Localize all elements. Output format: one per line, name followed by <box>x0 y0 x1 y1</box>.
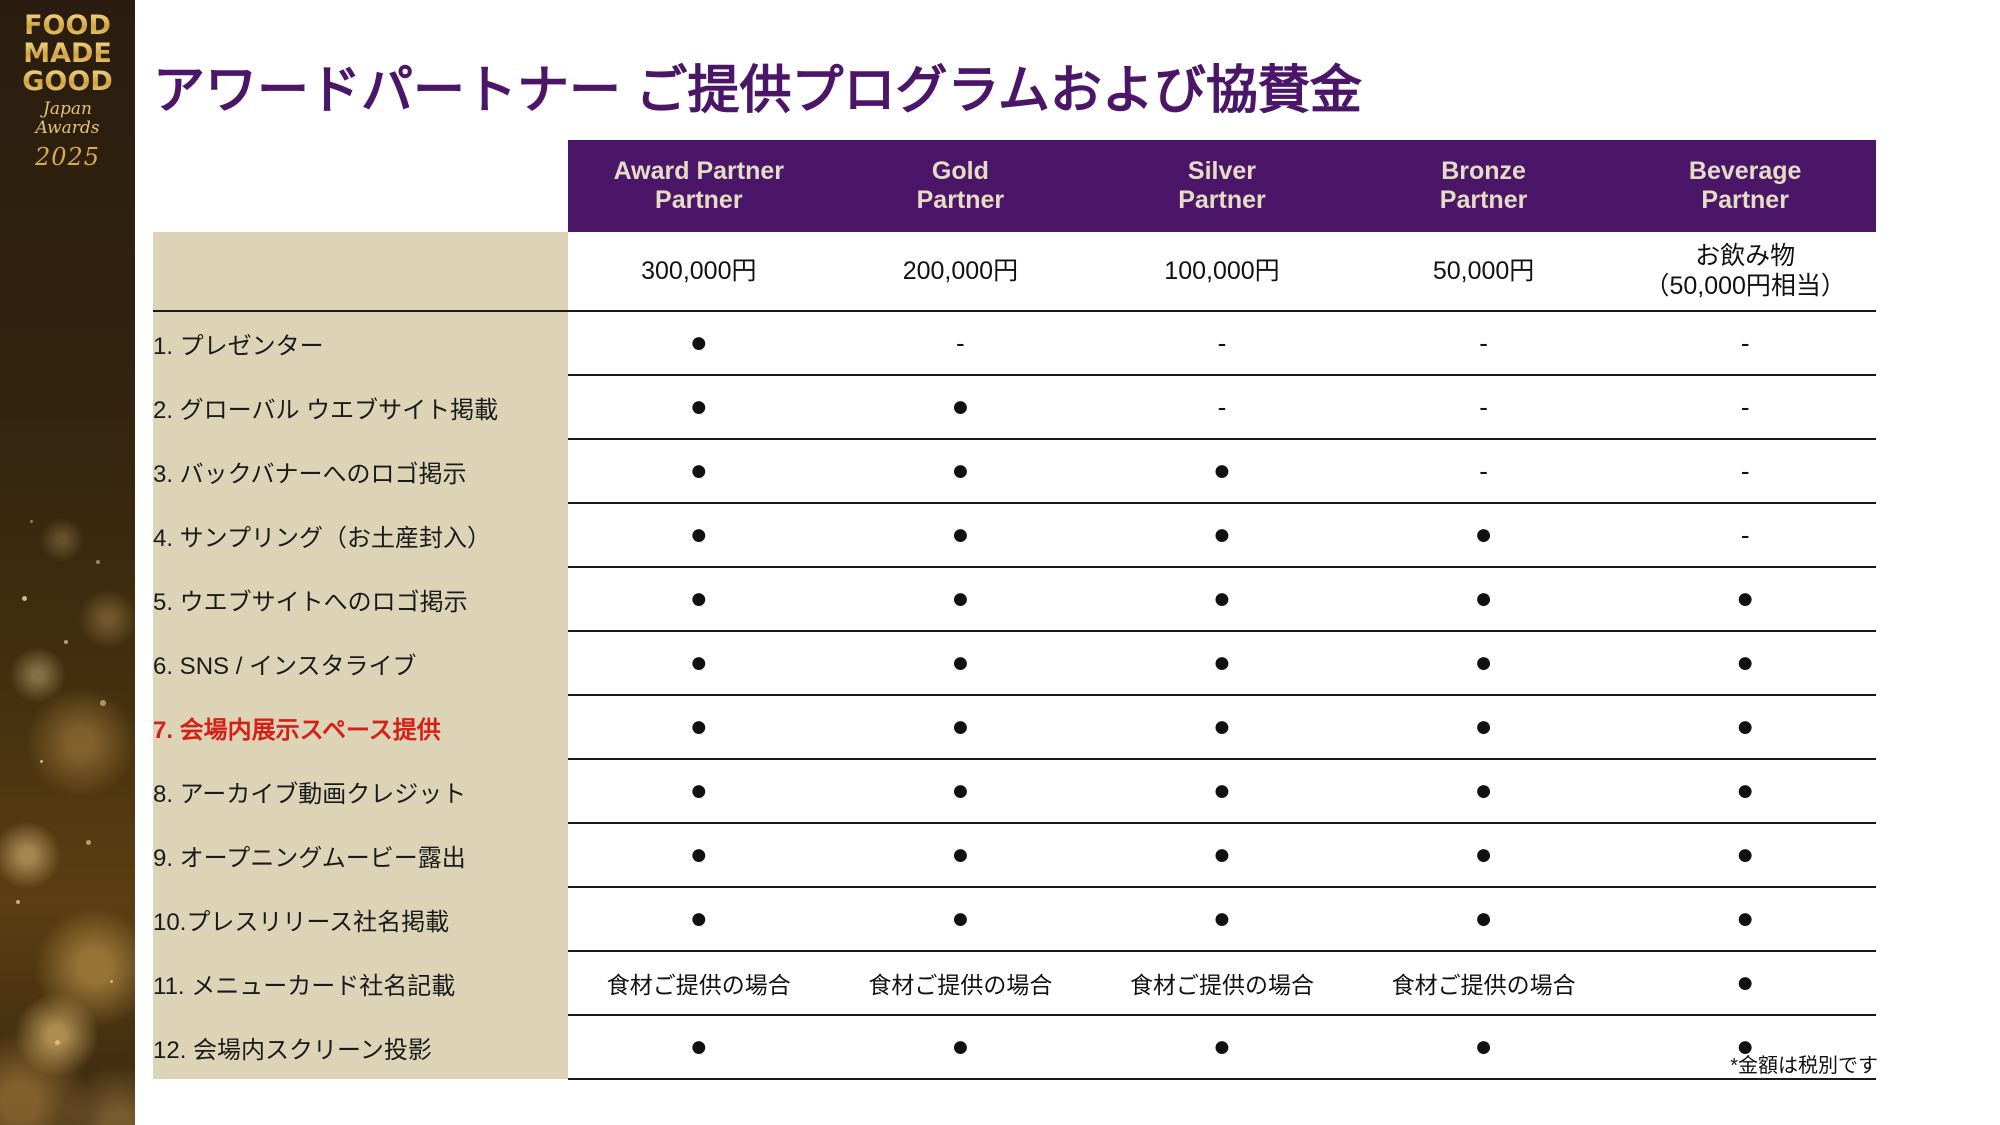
sparkle <box>40 760 43 763</box>
column-header-line2: Partner <box>1614 186 1876 215</box>
cell-r5-c3: ● <box>1091 567 1353 631</box>
price-line1: お飲み物 <box>1614 241 1876 272</box>
column-header-bronze-partner: Bronze Partner <box>1353 140 1615 232</box>
brand-logo: FOOD MADE GOOD Japan Awards 2025 <box>0 0 135 169</box>
table-row: 7. 会場内展示スペース提供●●●●● <box>153 695 1876 759</box>
cell-r10-c1: ● <box>568 887 830 951</box>
cell-r6-c3: ● <box>1091 631 1353 695</box>
cell-r3-c2: ● <box>830 439 1092 503</box>
cell-r9-c4: ● <box>1353 823 1615 887</box>
cell-r11-c5: ● <box>1614 951 1876 1015</box>
logo-year: 2025 <box>0 145 135 169</box>
cell-r9-c2: ● <box>830 823 1092 887</box>
price-bronze-partner: 50,000円 <box>1353 232 1615 311</box>
row-label-6: 6. SNS / インスタライブ <box>153 631 568 695</box>
row-label-5: 5. ウエブサイトへのロゴ掲示 <box>153 567 568 631</box>
price-silver-partner: 100,000円 <box>1091 232 1353 311</box>
column-header-line1: Beverage <box>1614 157 1876 186</box>
table-row: 10.プレスリリース社名掲載●●●●● <box>153 887 1876 951</box>
price-gold-partner: 200,000円 <box>830 232 1092 311</box>
cell-r6-c4: ● <box>1353 631 1615 695</box>
cell-r11-c4: 食材ご提供の場合 <box>1353 951 1615 1015</box>
table-header: Award Partner Partner Gold Partner Silve… <box>153 140 1876 232</box>
cell-r12-c2: ● <box>830 1015 1092 1079</box>
logo-line-food: FOOD <box>0 12 135 39</box>
sparkle <box>96 560 100 564</box>
table-row: 4. サンプリング（お土産封入）●●●●- <box>153 503 1876 567</box>
price-line1: 200,000円 <box>830 256 1092 287</box>
cell-r10-c2: ● <box>830 887 1092 951</box>
table-row: 1. プレゼンター●---- <box>153 311 1876 375</box>
column-header-silver-partner: Silver Partner <box>1091 140 1353 232</box>
row-label-9: 9. オープニングムービー露出 <box>153 823 568 887</box>
cell-r2-c2: ● <box>830 375 1092 439</box>
cell-r12-c4: ● <box>1353 1015 1615 1079</box>
table-row: 2. グローバル ウエブサイト掲載●●--- <box>153 375 1876 439</box>
cell-r4-c1: ● <box>568 503 830 567</box>
price-award-partner: 300,000円 <box>568 232 830 311</box>
price-line1: 50,000円 <box>1353 256 1615 287</box>
price-row-label <box>153 232 568 311</box>
cell-r10-c5: ● <box>1614 887 1876 951</box>
cell-r2-c5: - <box>1614 375 1876 439</box>
row-label-3: 3. バックバナーへのロゴ掲示 <box>153 439 568 503</box>
cell-r3-c3: ● <box>1091 439 1353 503</box>
cell-r5-c2: ● <box>830 567 1092 631</box>
cell-r6-c2: ● <box>830 631 1092 695</box>
table-row: 12. 会場内スクリーン投影●●●●● <box>153 1015 1876 1079</box>
sparkle <box>22 596 27 601</box>
column-header-line1: Gold <box>830 157 1092 186</box>
cell-r2-c3: - <box>1091 375 1353 439</box>
logo-awards: Awards <box>0 120 135 137</box>
row-label-1: 1. プレゼンター <box>153 311 568 375</box>
logo-line-good: GOOD <box>0 68 135 95</box>
cell-r10-c3: ● <box>1091 887 1353 951</box>
price-line1: 300,000円 <box>568 256 830 287</box>
column-header-beverage-partner: Beverage Partner <box>1614 140 1876 232</box>
column-header-award-partner: Award Partner Partner <box>568 140 830 232</box>
cell-r7-c5: ● <box>1614 695 1876 759</box>
cell-r8-c1: ● <box>568 759 830 823</box>
cell-r12-c1: ● <box>568 1015 830 1079</box>
table-row: 5. ウエブサイトへのロゴ掲示●●●●● <box>153 567 1876 631</box>
table-header-row: Award Partner Partner Gold Partner Silve… <box>153 140 1876 232</box>
table-row: 11. メニューカード社名記載食材ご提供の場合食材ご提供の場合食材ご提供の場合食… <box>153 951 1876 1015</box>
column-header-line2: Partner <box>1091 186 1353 215</box>
sponsorship-table: Award Partner Partner Gold Partner Silve… <box>153 140 1876 1080</box>
cell-r1-c1: ● <box>568 311 830 375</box>
row-label-12: 12. 会場内スクリーン投影 <box>153 1015 568 1079</box>
price-beverage-partner: お飲み物 （50,000円相当） <box>1614 232 1876 311</box>
cell-r11-c1: 食材ご提供の場合 <box>568 951 830 1015</box>
table-body: 300,000円 200,000円 100,000円 50,000円 お飲み物 <box>153 232 1876 1079</box>
cell-r11-c3: 食材ご提供の場合 <box>1091 951 1353 1015</box>
sparkle <box>16 900 20 904</box>
decorative-sidebar: FOOD MADE GOOD Japan Awards 2025 <box>0 0 135 1125</box>
cell-r1-c5: - <box>1614 311 1876 375</box>
cell-r8-c3: ● <box>1091 759 1353 823</box>
price-line1: 100,000円 <box>1091 256 1353 287</box>
row-label-10: 10.プレスリリース社名掲載 <box>153 887 568 951</box>
column-header-line2: Partner <box>1353 186 1615 215</box>
column-header-line2: Partner <box>830 186 1092 215</box>
cell-r4-c2: ● <box>830 503 1092 567</box>
cell-r1-c2: - <box>830 311 1092 375</box>
cell-r2-c4: - <box>1353 375 1615 439</box>
footnote: *金額は税別です <box>1730 1049 1878 1078</box>
column-header-line1: Bronze <box>1353 157 1615 186</box>
cell-r9-c1: ● <box>568 823 830 887</box>
page-title: アワードパートナー ご提供プログラムおよび協賛金 <box>153 48 1362 123</box>
sparkle <box>86 840 91 845</box>
cell-r9-c5: ● <box>1614 823 1876 887</box>
price-row: 300,000円 200,000円 100,000円 50,000円 お飲み物 <box>153 232 1876 311</box>
cell-r1-c3: - <box>1091 311 1353 375</box>
sparkle <box>64 640 68 644</box>
column-header-line2: Partner <box>568 186 830 215</box>
sparkle <box>100 700 106 706</box>
cell-r5-c1: ● <box>568 567 830 631</box>
cell-r9-c3: ● <box>1091 823 1353 887</box>
cell-r10-c4: ● <box>1353 887 1615 951</box>
cell-r8-c4: ● <box>1353 759 1615 823</box>
cell-r12-c3: ● <box>1091 1015 1353 1079</box>
row-label-4: 4. サンプリング（お土産封入） <box>153 503 568 567</box>
cell-r1-c4: - <box>1353 311 1615 375</box>
slide-body: アワードパートナー ご提供プログラムおよび協賛金 Award Partner P… <box>135 0 2000 1125</box>
column-header-line1: Award Partner <box>568 157 830 186</box>
cell-r7-c1: ● <box>568 695 830 759</box>
logo-line-made: MADE <box>0 40 135 67</box>
sparkle <box>30 520 33 523</box>
cell-r8-c5: ● <box>1614 759 1876 823</box>
cell-r3-c4: - <box>1353 439 1615 503</box>
column-header-gold-partner: Gold Partner <box>830 140 1092 232</box>
column-header-line1: Silver <box>1091 157 1353 186</box>
cell-r5-c4: ● <box>1353 567 1615 631</box>
cell-r4-c4: ● <box>1353 503 1615 567</box>
sparkle <box>55 1040 60 1045</box>
cell-r4-c3: ● <box>1091 503 1353 567</box>
cell-r11-c2: 食材ご提供の場合 <box>830 951 1092 1015</box>
table-row: 6. SNS / インスタライブ●●●●● <box>153 631 1876 695</box>
cell-r6-c1: ● <box>568 631 830 695</box>
row-label-8: 8. アーカイブ動画クレジット <box>153 759 568 823</box>
cell-r7-c3: ● <box>1091 695 1353 759</box>
row-label-7: 7. 会場内展示スペース提供 <box>153 695 568 759</box>
cell-r4-c5: - <box>1614 503 1876 567</box>
table-row: 3. バックバナーへのロゴ掲示●●●-- <box>153 439 1876 503</box>
table-row: 8. アーカイブ動画クレジット●●●●● <box>153 759 1876 823</box>
cell-r3-c5: - <box>1614 439 1876 503</box>
cell-r2-c1: ● <box>568 375 830 439</box>
table-row: 9. オープニングムービー露出●●●●● <box>153 823 1876 887</box>
row-label-11: 11. メニューカード社名記載 <box>153 951 568 1015</box>
cell-r8-c2: ● <box>830 759 1092 823</box>
cell-r7-c4: ● <box>1353 695 1615 759</box>
cell-r6-c5: ● <box>1614 631 1876 695</box>
cell-r7-c2: ● <box>830 695 1092 759</box>
price-line2: （50,000円相当） <box>1614 271 1876 302</box>
row-label-2: 2. グローバル ウエブサイト掲載 <box>153 375 568 439</box>
header-corner-cell <box>153 140 568 232</box>
cell-r5-c5: ● <box>1614 567 1876 631</box>
cell-r3-c1: ● <box>568 439 830 503</box>
sparkle <box>110 980 113 983</box>
logo-japan: Japan <box>0 101 135 118</box>
